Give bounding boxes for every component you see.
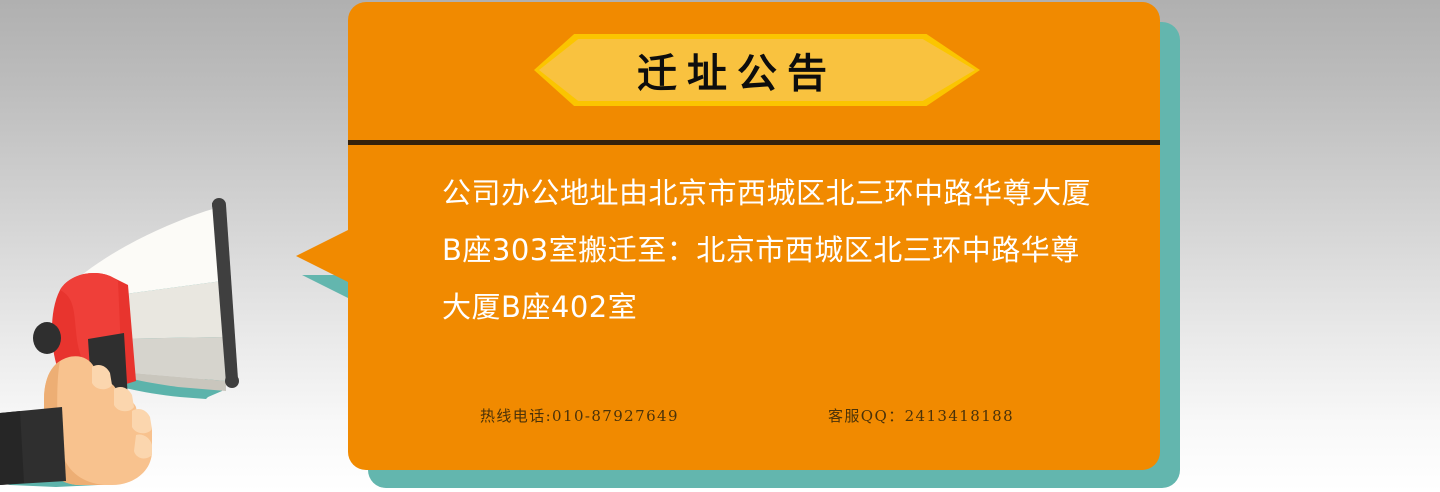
sleeve	[0, 407, 66, 485]
hotline-block: 热线电话:010-87927649	[442, 405, 822, 426]
page-title: 迁址公告	[534, 34, 930, 106]
footer-contacts: 热线电话:010-87927649 客服QQ：2413418188	[442, 405, 1102, 426]
qq-block: 客服QQ：2413418188	[822, 405, 1102, 426]
speech-tail	[296, 228, 352, 284]
hotline-text: 热线电话:010-87927649	[480, 407, 679, 425]
qq-text: 客服QQ：2413418188	[828, 407, 1014, 425]
header-divider	[348, 140, 1160, 145]
megaphone-back-cap	[33, 322, 61, 354]
announcement-body: 公司办公地址由北京市西城区北三环中路华尊大厦B座303室搬迁至：北京市西城区北三…	[442, 165, 1102, 336]
announcement-banner-canvas: 迁址公告 公司办公地址由北京市西城区北三环中路华尊大厦B座303室搬迁至：北京市…	[0, 0, 1440, 492]
megaphone-illustration	[0, 185, 300, 492]
title-ribbon: 迁址公告	[534, 34, 980, 106]
